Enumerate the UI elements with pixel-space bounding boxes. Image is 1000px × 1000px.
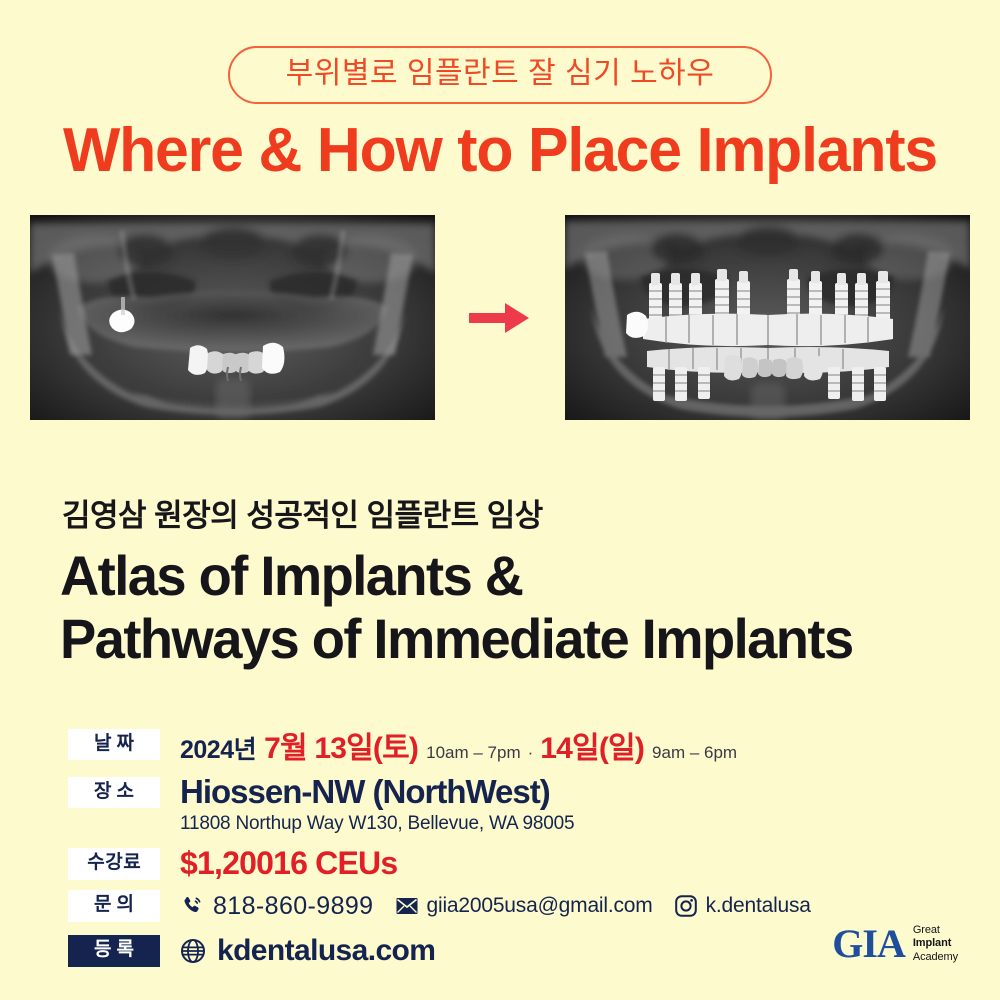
register-website[interactable]: kdentalusa.com <box>217 934 435 968</box>
contact-phone[interactable]: 818-860-9899 <box>180 892 374 921</box>
date-year: 2024년 <box>180 730 256 766</box>
info-row-contact: 문의 818-860-9899 giia2005usa@gmail.com <box>68 890 1000 922</box>
gia-word-great: Great <box>913 924 958 937</box>
info-row-date: 날짜 2024년 7월 13일(토) 10am – 7pm · 14일(일) 9… <box>68 723 1000 767</box>
date-time-2: 9am – 6pm <box>652 743 737 763</box>
gia-logo-words: Great Implant Academy <box>913 924 958 964</box>
globe-icon <box>180 938 206 964</box>
label-date: 날짜 <box>68 729 160 761</box>
gia-word-implant: Implant <box>913 937 958 950</box>
contact-email-address: giia2005usa@gmail.com <box>427 894 653 918</box>
venue-address: 11808 Northup Way W130, Bellevue, WA 980… <box>180 813 574 835</box>
label-contact: 문의 <box>68 890 160 922</box>
fee-ceus: 16 CEUs <box>273 845 397 882</box>
venue-name: Hiossen-NW (NorthWest) <box>180 773 574 811</box>
tagline-section: 부위별로 임플란트 잘 심기 노하우 <box>0 0 1000 104</box>
arrow-right-container <box>435 301 565 335</box>
xray-after-graphic <box>565 215 970 420</box>
korean-lead-text: 김영삼 원장의 성공적인 임플란트 임상 <box>62 490 1000 535</box>
envelope-icon <box>396 897 418 915</box>
panoramic-xray-before-image <box>30 215 435 420</box>
phone-icon <box>180 894 204 918</box>
info-row-fee: 수강료 $1,200 16 CEUs <box>68 845 1000 882</box>
contact-phone-number: 818-860-9899 <box>213 892 374 921</box>
tagline-pill: 부위별로 임플란트 잘 심기 노하우 <box>228 46 773 104</box>
gia-word-academy: Academy <box>913 951 958 964</box>
date-separator: · <box>528 743 534 763</box>
xray-before-graphic <box>30 215 435 420</box>
date-values: 2024년 7월 13일(토) 10am – 7pm · 14일(일) 9am … <box>180 723 737 767</box>
course-title-line-1: Atlas of Implants & <box>60 544 522 607</box>
contact-email[interactable]: giia2005usa@gmail.com <box>396 894 653 918</box>
venue-values: Hiossen-NW (NorthWest) 11808 Northup Way… <box>180 773 574 836</box>
contact-instagram-handle: k.dentalusa <box>706 894 811 918</box>
xray-comparison <box>0 215 1000 420</box>
panoramic-xray-after-image <box>565 215 970 420</box>
instagram-icon <box>675 895 697 917</box>
contact-values: 818-860-9899 giia2005usa@gmail.com k.den… <box>180 892 811 921</box>
fee-price: $1,200 <box>180 845 273 882</box>
gia-logo-mark: GIA <box>832 924 905 964</box>
label-fee: 수강료 <box>68 848 160 880</box>
gia-logo: GIA Great Implant Academy <box>832 924 958 964</box>
fee-values: $1,200 16 CEUs <box>180 845 397 882</box>
date-day-2: 14일(일) <box>540 723 644 767</box>
page-headline: Where & How to Place Implants <box>10 118 990 183</box>
arrow-right-icon <box>469 301 531 335</box>
label-register: 등록 <box>68 935 160 967</box>
label-venue: 장소 <box>68 777 160 809</box>
course-title-line-2: Pathways of Immediate Implants <box>60 608 972 671</box>
date-time-1: 10am – 7pm <box>426 743 521 763</box>
register-values[interactable]: kdentalusa.com <box>180 934 435 968</box>
contact-instagram[interactable]: k.dentalusa <box>675 894 811 918</box>
date-day-1: 7월 13일(토) <box>264 723 418 767</box>
course-title: Atlas of Implants & Pathways of Immediat… <box>60 545 972 670</box>
info-row-venue: 장소 Hiossen-NW (NorthWest) 11808 Northup … <box>68 773 1000 836</box>
